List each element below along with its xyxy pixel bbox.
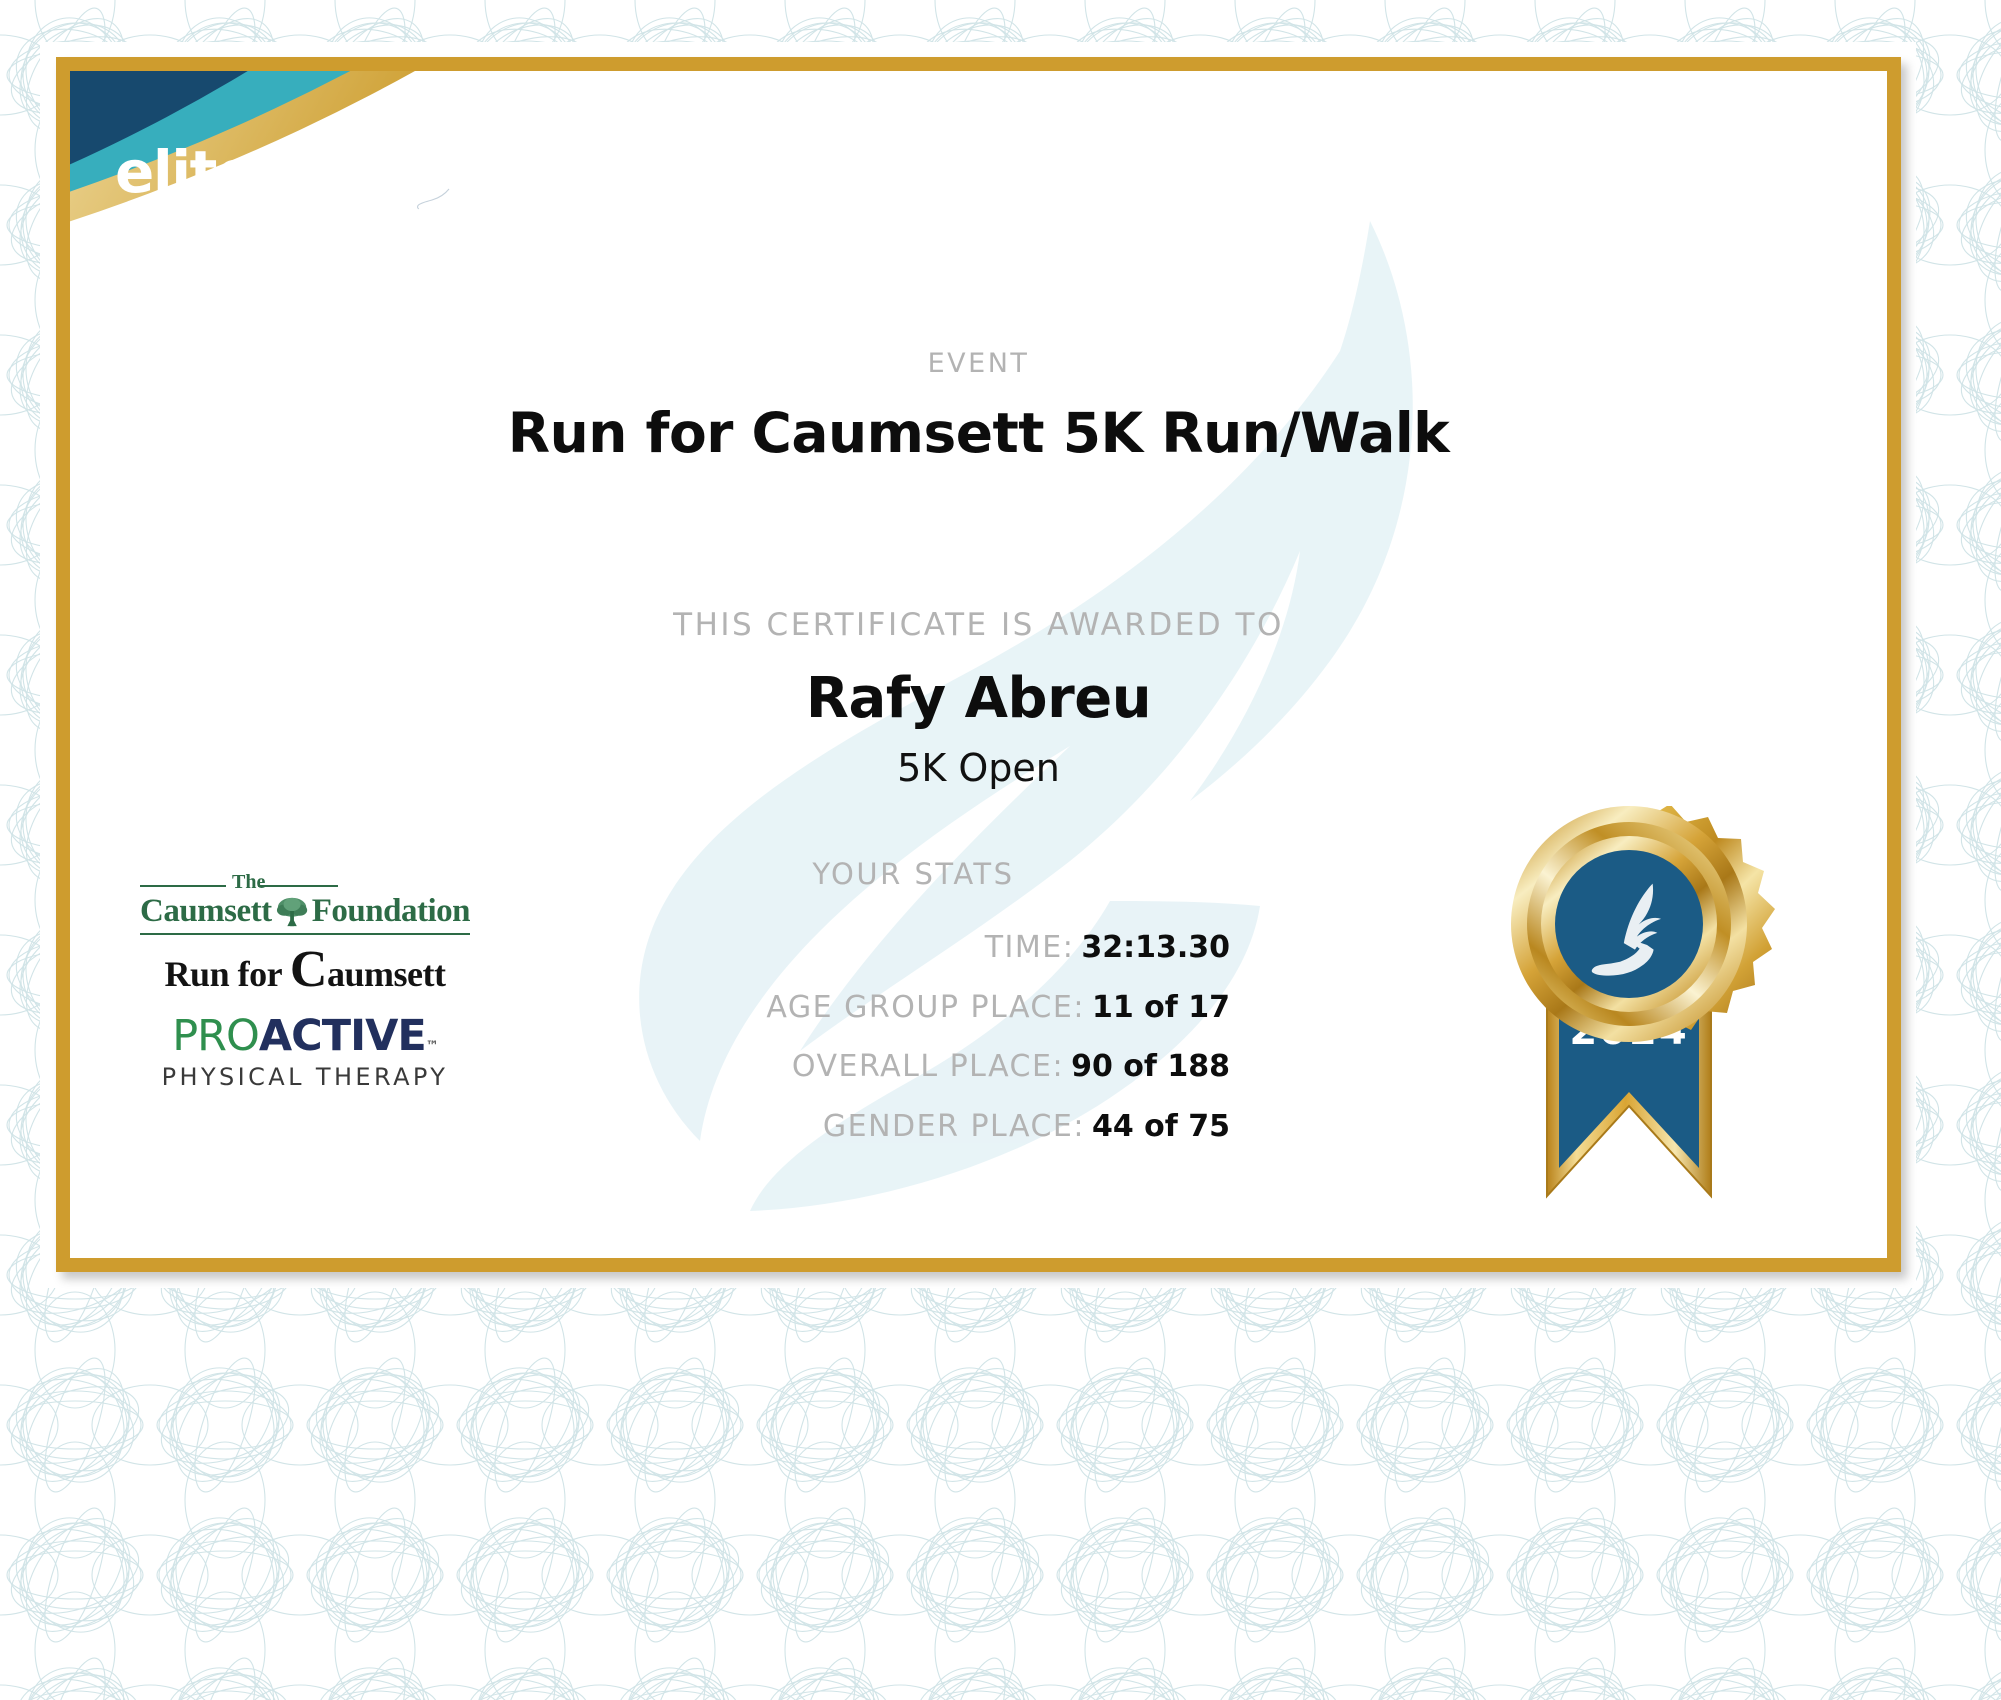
finisher-medal: 2024 <box>1479 806 1779 1258</box>
stat-key: TIME: <box>985 930 1075 965</box>
stat-value: 90 of 188 <box>1071 1049 1230 1084</box>
medal-caption: FINISHER CERTIFICATE <box>1479 1257 1779 1258</box>
medal-graphic: 2024 <box>1479 806 1779 1246</box>
recipient-division: 5K Open <box>70 746 1887 790</box>
certificate-content: EVENT Run for Caumsett 5K Run/Walk THIS … <box>70 71 1887 1258</box>
winged-foot-icon <box>414 137 488 213</box>
proactive-pro: PRO <box>172 1015 259 1058</box>
stat-row-age-group-place: AGE GROUP PLACE:11 of 17 <box>400 991 1230 1026</box>
sponsor-caumsett-foundation-logo: The Caumsett Foundation <box>140 871 470 933</box>
stat-value: 44 of 75 <box>1092 1109 1230 1144</box>
stat-key: GENDER PLACE: <box>823 1109 1085 1144</box>
stat-value: 11 of 17 <box>1092 990 1230 1025</box>
stats-list: TIME:32:13.30 AGE GROUP PLACE:11 of 17 O… <box>400 931 1230 1169</box>
proactive-tagline: PHYSICAL THERAPY <box>140 1063 470 1091</box>
awarded-to-label: THIS CERTIFICATE IS AWARDED TO <box>70 607 1887 643</box>
brand-wordmark: elitefeats <box>115 143 412 201</box>
sponsor-word-caumsett: Caumsett <box>140 893 272 930</box>
tree-icon <box>276 895 308 929</box>
sponsor-aumsett-text: aumsett <box>327 954 445 994</box>
sponsor-run-for-caumsett-logo: Run for Caumsett <box>140 953 470 995</box>
proactive-wordmark: PROACTIVE™ <box>140 1015 470 1058</box>
proactive-active: ACTIVE <box>259 1015 426 1058</box>
event-title: Run for Caumsett 5K Run/Walk <box>70 401 1887 465</box>
stat-key: OVERALL PLACE: <box>792 1049 1064 1084</box>
certificate-page: elitefeats EVENT Run <box>0 0 2001 1700</box>
event-label: EVENT <box>70 348 1887 379</box>
medal-caption-line1: FINISHER <box>1479 1257 1779 1258</box>
sponsor-name: Caumsett Foundation <box>140 893 470 930</box>
sponsor-the-label: The <box>232 871 265 894</box>
sponsor-proactive-physical-therapy-logo: PROACTIVE™ PHYSICAL THERAPY <box>140 1015 470 1091</box>
stat-key: AGE GROUP PLACE: <box>766 990 1085 1025</box>
certificate-gold-frame: elitefeats EVENT Run <box>56 57 1901 1272</box>
stat-row-overall-place: OVERALL PLACE:90 of 188 <box>400 1050 1230 1085</box>
recipient-name: Rafy Abreu <box>70 666 1887 731</box>
divider <box>140 885 226 887</box>
trademark-icon: ™ <box>426 1040 438 1053</box>
stat-row-time: TIME:32:13.30 <box>400 931 1230 966</box>
sponsor-big-c: C <box>290 941 327 998</box>
sponsor-run-for-text: Run for <box>165 954 290 994</box>
sponsor-word-foundation: Foundation <box>312 893 470 930</box>
stat-row-gender-place: GENDER PLACE:44 of 75 <box>400 1110 1230 1145</box>
divider <box>140 933 470 935</box>
divider <box>258 885 338 887</box>
certificate-body: elitefeats EVENT Run <box>70 71 1887 1258</box>
elitefeats-logo: elitefeats <box>115 131 488 213</box>
stat-value: 32:13.30 <box>1081 930 1230 965</box>
sponsor-logos: The Caumsett Foundation <box>140 871 470 1111</box>
